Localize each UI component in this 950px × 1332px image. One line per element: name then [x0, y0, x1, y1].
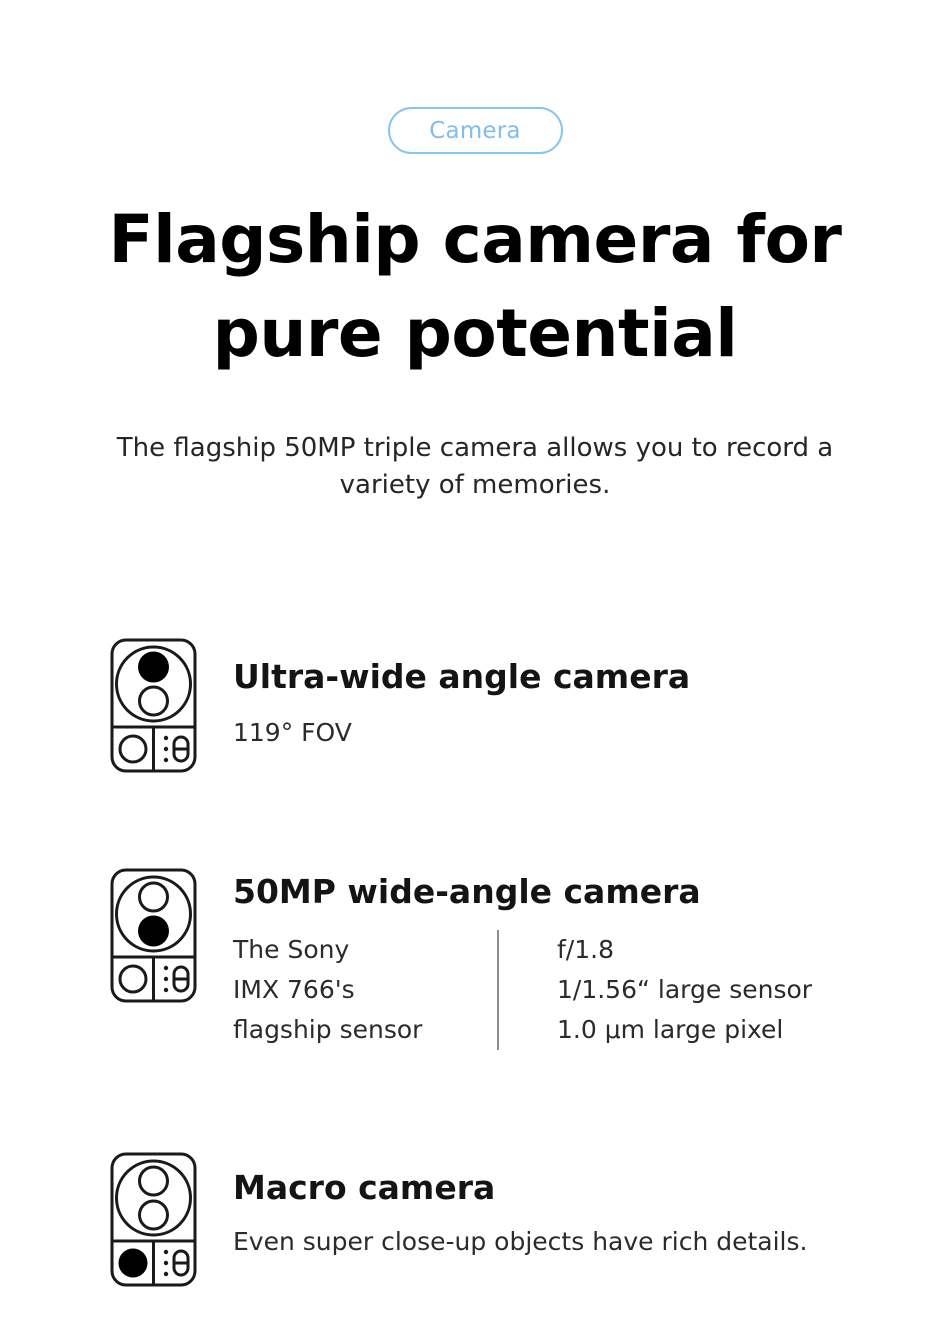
camera-module-wide-icon [110, 868, 197, 1003]
page-title-line-1: Flagship camera for [109, 201, 842, 278]
feature-50mp-wide-angle-camera: 50MP wide-angle camera The Sony IMX 766'… [110, 868, 812, 1050]
specs-left-column: The Sony IMX 766's flagship sensor [233, 930, 497, 1050]
spec-line: flagship sensor [233, 1010, 497, 1050]
feature-ultra-wide-angle-camera: Ultra-wide angle camera 119° FOV [110, 638, 690, 773]
page-subtitle-line-1: The flagship 50MP triple camera allows y… [117, 433, 833, 463]
spec-line: IMX 766's [233, 970, 497, 1010]
section-badge-label: Camera [429, 118, 520, 144]
spec-line: f/1.8 [557, 930, 812, 970]
feature-subtitle: 119° FOV [233, 715, 690, 751]
feature-subtitle: Even super close-up objects have rich de… [233, 1224, 807, 1260]
feature-body: Macro camera Even super close-up objects… [233, 1152, 807, 1260]
spec-line: 1.0 μm large pixel [557, 1010, 812, 1050]
feature-title: 50MP wide-angle camera [233, 872, 812, 912]
page-subtitle-line-2: variety of memories. [0, 467, 950, 504]
feature-specs: The Sony IMX 766's flagship sensor f/1.8… [233, 930, 812, 1050]
specs-divider [497, 930, 499, 1050]
camera-module-ultrawide-icon [110, 638, 197, 773]
camera-module-macro-icon [110, 1152, 197, 1287]
feature-macro-camera: Macro camera Even super close-up objects… [110, 1152, 807, 1287]
feature-body: 50MP wide-angle camera The Sony IMX 766'… [233, 868, 812, 1050]
feature-title: Macro camera [233, 1168, 807, 1208]
spec-line: The Sony [233, 930, 497, 970]
feature-body: Ultra-wide angle camera 119° FOV [233, 638, 690, 751]
specs-right-column: f/1.8 1/1.56“ large sensor 1.0 μm large … [557, 930, 812, 1050]
page-title-line-2: pure potential [213, 295, 738, 372]
page-subtitle: The flagship 50MP triple camera allows y… [0, 430, 950, 504]
feature-title: Ultra-wide angle camera [233, 657, 690, 697]
spec-line: 1/1.56“ large sensor [557, 970, 812, 1010]
section-badge-camera: Camera [388, 107, 563, 154]
badge-row: Camera [0, 107, 950, 154]
page-title: Flagship camera for pure potential [0, 193, 950, 380]
camera-feature-page: Camera Flagship camera for pure potentia… [0, 0, 950, 1332]
